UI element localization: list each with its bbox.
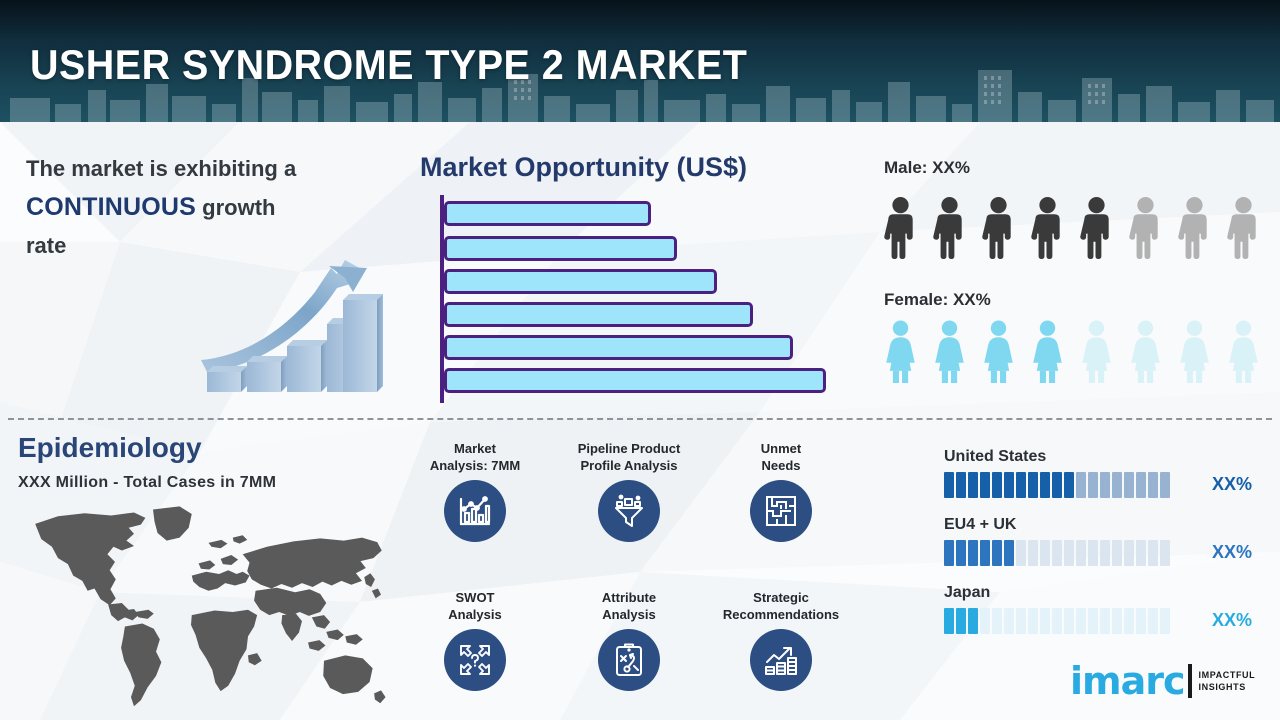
region-percent: XX% [1212, 474, 1252, 495]
region-bar-segment [1136, 540, 1146, 566]
region-bar-segment [1064, 608, 1074, 634]
region-bar-segment [1088, 472, 1098, 498]
region-name: United States [944, 448, 1244, 466]
region-bar-segment [1112, 540, 1122, 566]
region-bar-segment [1016, 472, 1026, 498]
region-bar-segment [992, 472, 1002, 498]
region-bar-segment [1100, 472, 1110, 498]
region-bar-segment [1148, 472, 1158, 498]
analysis-item-pipeline-product[interactable]: Pipeline Product Profile Analysis [549, 440, 709, 542]
region-percent: XX% [1212, 542, 1252, 563]
chart-bar [444, 269, 717, 294]
statement-line-2: CONTINUOUS growth [26, 188, 396, 227]
female-person-icon [1072, 318, 1121, 383]
market-opportunity-title: Market Opportunity (US$) [420, 152, 747, 183]
region-name: Japan [944, 584, 1244, 602]
region-eu4-uk: EU4 + UK XX% [944, 516, 1244, 566]
male-person-icon [974, 195, 1023, 260]
logo-tagline: IMPACTFUL INSIGHTS [1199, 669, 1256, 693]
logo-divider [1188, 664, 1192, 698]
region-bar-segment [1148, 540, 1158, 566]
swot-arrows-question-icon [444, 629, 506, 691]
market-statement: The market is exhibiting a CONTINUOUS gr… [26, 150, 396, 265]
region-percent: XX% [1212, 610, 1252, 631]
region-bar-segment [1076, 472, 1086, 498]
imarc-logo[interactable]: imarc IMPACTFUL INSIGHTS [1070, 662, 1255, 700]
region-bar-segment [1124, 472, 1134, 498]
bar-chart-line-icon [444, 480, 506, 542]
region-bar-segment [1064, 472, 1074, 498]
maze-icon [750, 480, 812, 542]
analysis-item-swot-analysis[interactable]: SWOT Analysis [395, 589, 555, 691]
region-bar-segment [1028, 540, 1038, 566]
region-bar-segment [1160, 472, 1170, 498]
analysis-caption: Pipeline Product Profile Analysis [549, 440, 709, 474]
region-bar-track [944, 608, 1244, 634]
region-bar-segment [1028, 608, 1038, 634]
region-bar-segment [1148, 608, 1158, 634]
male-figure-row [876, 195, 1268, 260]
region-bar-segment [968, 608, 978, 634]
region-bar-track [944, 540, 1244, 566]
epidemiology-title: Epidemiology [18, 432, 202, 464]
region-bar-segment [980, 608, 990, 634]
region-bar-segment [1112, 472, 1122, 498]
region-bar-segment [980, 540, 990, 566]
analysis-caption: Unmet Needs [701, 440, 861, 474]
female-person-icon [1023, 318, 1072, 383]
region-bar-segment [956, 608, 966, 634]
chart-bar [444, 335, 793, 360]
region-bar-segment [1100, 540, 1110, 566]
region-bar-segment [1076, 540, 1086, 566]
region-bar-segment [1136, 608, 1146, 634]
region-bar-segment [944, 472, 954, 498]
epidemiology-subtitle: XXX Million - Total Cases in 7MM [18, 474, 276, 492]
region-bar-segment [992, 540, 1002, 566]
region-bar-segment [956, 472, 966, 498]
growth-arrow-bars-icon [750, 629, 812, 691]
region-bar-segment [1160, 608, 1170, 634]
region-bar-segment [1088, 540, 1098, 566]
region-bar-segment [1040, 540, 1050, 566]
analysis-item-unmet-needs[interactable]: Unmet Needs [701, 440, 861, 542]
region-bar-segment [1136, 472, 1146, 498]
logo-brand-text: imarc [1070, 662, 1185, 700]
region-bar-segment [1124, 540, 1134, 566]
region-bar-segment [1004, 540, 1014, 566]
male-person-icon [1023, 195, 1072, 260]
region-bar-segment [1088, 608, 1098, 634]
female-person-icon [1170, 318, 1219, 383]
region-bar-segment [1040, 472, 1050, 498]
analysis-caption: Market Analysis: 7MM [395, 440, 555, 474]
analysis-item-market-analysis[interactable]: Market Analysis: 7MM [395, 440, 555, 542]
region-bar-segment [968, 472, 978, 498]
region-bar-segment [1016, 608, 1026, 634]
region-japan: Japan XX% [944, 584, 1244, 634]
analysis-item-attribute-analysis[interactable]: Attribute Analysis [549, 589, 709, 691]
male-label: Male: XX% [884, 158, 970, 178]
region-bar-segment [1052, 540, 1062, 566]
analysis-caption: Attribute Analysis [549, 589, 709, 623]
region-bar-segment [956, 540, 966, 566]
region-bar-segment [1052, 608, 1062, 634]
male-person-icon [1219, 195, 1268, 260]
female-person-icon [876, 318, 925, 383]
region-bar-segment [1040, 608, 1050, 634]
chart-bar [444, 302, 753, 327]
analysis-item-strategic-recommendations[interactable]: Strategic Recommendations [701, 589, 861, 691]
region-bar-segment [1064, 540, 1074, 566]
region-bar-segment [992, 608, 1002, 634]
chart-bar [444, 201, 651, 226]
section-divider [8, 418, 1272, 420]
female-figure-row [876, 318, 1268, 383]
female-person-icon [974, 318, 1023, 383]
market-opportunity-chart [428, 195, 848, 410]
statement-line-2-rest: growth [196, 195, 275, 220]
region-bar-segment [944, 608, 954, 634]
region-bar-segment [1052, 472, 1062, 498]
world-map-icon [20, 500, 400, 715]
region-name: EU4 + UK [944, 516, 1244, 534]
region-bar-segment [968, 540, 978, 566]
clipboard-strategy-icon [598, 629, 660, 691]
region-bar-segment [1004, 608, 1014, 634]
growth-chart-illustration-icon [185, 252, 400, 402]
female-person-icon [925, 318, 974, 383]
male-person-icon [925, 195, 974, 260]
male-person-icon [1072, 195, 1121, 260]
header-vignette [0, 0, 1280, 40]
region-bar-segment [1028, 472, 1038, 498]
male-person-icon [1121, 195, 1170, 260]
region-united-states: United States XX% [944, 448, 1244, 498]
female-person-icon [1121, 318, 1170, 383]
page-title: USHER SYNDROME TYPE 2 MARKET [30, 41, 747, 89]
female-label: Female: XX% [884, 290, 991, 310]
header-banner: USHER SYNDROME TYPE 2 MARKET [0, 0, 1280, 122]
male-person-icon [876, 195, 925, 260]
region-bar-segment [1160, 540, 1170, 566]
male-person-icon [1170, 195, 1219, 260]
female-person-icon [1219, 318, 1268, 383]
chart-bar [444, 236, 677, 261]
funnel-icon [598, 480, 660, 542]
region-bar-segment [980, 472, 990, 498]
statement-highlight: CONTINUOUS [26, 193, 196, 221]
analysis-caption: SWOT Analysis [395, 589, 555, 623]
region-bar-segment [1076, 608, 1086, 634]
region-bar-segment [944, 540, 954, 566]
infographic-root: USHER SYNDROME TYPE 2 MARKET The market … [0, 0, 1280, 720]
chart-bar [444, 368, 826, 393]
region-bar-segment [1004, 472, 1014, 498]
region-bar-segment [1112, 608, 1122, 634]
region-bar-segment [1016, 540, 1026, 566]
region-bar-segment [1124, 608, 1134, 634]
analysis-caption: Strategic Recommendations [701, 589, 861, 623]
region-bar-track [944, 472, 1244, 498]
region-bar-segment [1100, 608, 1110, 634]
statement-line-1: The market is exhibiting a [26, 150, 396, 188]
